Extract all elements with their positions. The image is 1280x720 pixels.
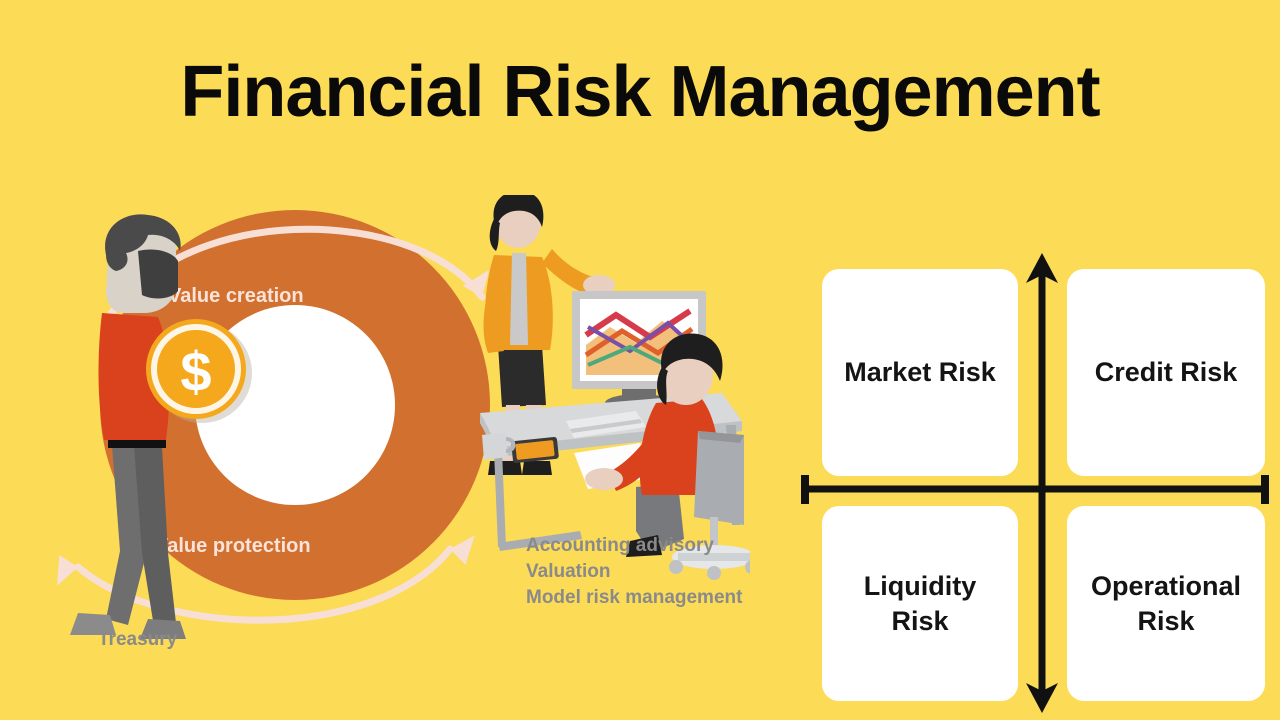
quadrant-label-credit-risk: Credit Risk	[1095, 355, 1238, 390]
office-desk-scene	[480, 195, 750, 580]
cycle-label-bottom: Value protection	[155, 535, 311, 557]
cycle-label-top: Value creation	[168, 285, 304, 307]
service-item-0: Accounting advisory	[526, 535, 714, 556]
quadrant-card-liquidity-risk[interactable]: LiquidityRisk	[822, 506, 1018, 701]
treasury-caption: Treasury	[98, 629, 178, 650]
quadrant-label-operational-risk: OperationalRisk	[1091, 569, 1241, 639]
value-protection-arrowhead-left	[50, 555, 79, 591]
quadrant-label-market-risk: Market Risk	[844, 355, 996, 390]
value-protection-arrowhead-right	[448, 529, 483, 565]
slide-canvas: Financial Risk Management Value creation	[0, 0, 1280, 720]
quadrant-card-market-risk[interactable]: Market Risk	[822, 269, 1018, 476]
quadrant-card-credit-risk[interactable]: Credit Risk	[1067, 269, 1265, 476]
quadrant-label-liquidity-risk: LiquidityRisk	[864, 569, 976, 639]
page-title: Financial Risk Management	[0, 48, 1280, 136]
service-item-2: Model risk management	[526, 587, 743, 608]
svg-text:$: $	[180, 340, 211, 403]
quadrant-card-operational-risk[interactable]: OperationalRisk	[1067, 506, 1265, 701]
horizontal-axis-cap-left	[801, 475, 809, 504]
service-item-1: Valuation	[526, 561, 610, 582]
horizontal-axis-cap-right	[1261, 475, 1269, 504]
financial-risk-cycle-illustration: Value creation Value protection	[50, 195, 750, 665]
risk-quadrant-matrix: Market Risk Credit Risk LiquidityRisk Op…	[790, 245, 1280, 720]
